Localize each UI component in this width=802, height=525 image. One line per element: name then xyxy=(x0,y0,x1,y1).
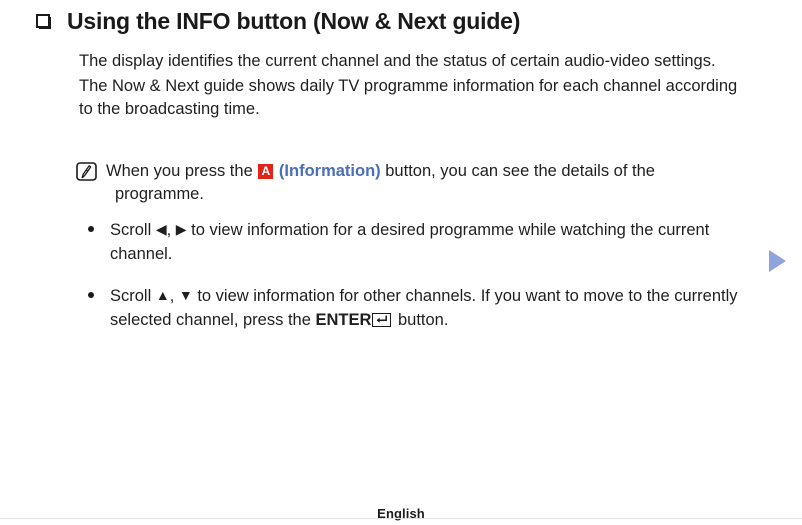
bullet-text-end: button. xyxy=(393,311,448,329)
bullet-text-start: Scroll xyxy=(110,221,156,239)
footer-divider xyxy=(0,518,802,519)
paragraph: The display identifies the current chann… xyxy=(79,50,751,73)
page-footer: English xyxy=(0,505,802,523)
triangle-right-icon[interactable] xyxy=(769,250,786,272)
bullet-separator: , xyxy=(167,221,176,239)
shadowed-square-icon xyxy=(36,14,51,29)
bullet-dot-icon xyxy=(88,292,94,298)
note-text-before: When you press the xyxy=(106,162,257,180)
triangle-left-icon: ◀ xyxy=(156,221,167,237)
enter-return-key-icon xyxy=(372,313,391,327)
page-title: Using the INFO button (Now & Next guide) xyxy=(67,8,520,36)
triangle-up-icon: ▲ xyxy=(156,287,170,303)
note-text-after: button, you can see the details of the xyxy=(381,162,655,180)
note-text-line2: programme. xyxy=(106,183,756,206)
body-text-block: The display identifies the current chann… xyxy=(79,50,751,121)
manual-page: Using the INFO button (Now & Next guide)… xyxy=(0,0,802,525)
list-item: Scroll ▲, ▼ to view information for othe… xyxy=(84,283,764,332)
triangle-down-icon: ▼ xyxy=(179,287,193,303)
bullet-text-start: Scroll xyxy=(110,287,156,305)
red-a-button-badge: A xyxy=(258,164,273,179)
paragraph: The Now & Next guide shows daily TV prog… xyxy=(79,75,751,121)
note-text: When you press the A (Information) butto… xyxy=(106,160,756,206)
bullet-dot-icon xyxy=(88,226,94,232)
instruction-list: Scroll ◀, ▶ to view information for a de… xyxy=(84,217,764,332)
note-pen-icon xyxy=(76,162,97,181)
bullet-separator: , xyxy=(170,287,179,305)
note-callout: When you press the A (Information) butto… xyxy=(76,160,756,206)
triangle-right-icon: ▶ xyxy=(176,221,187,237)
list-item: Scroll ◀, ▶ to view information for a de… xyxy=(84,217,764,266)
enter-label: ENTER xyxy=(315,311,371,329)
information-link-label: Information xyxy=(284,162,375,180)
page-heading: Using the INFO button (Now & Next guide) xyxy=(36,8,520,36)
bullet-text-end: to view information for a desired progra… xyxy=(110,221,709,263)
